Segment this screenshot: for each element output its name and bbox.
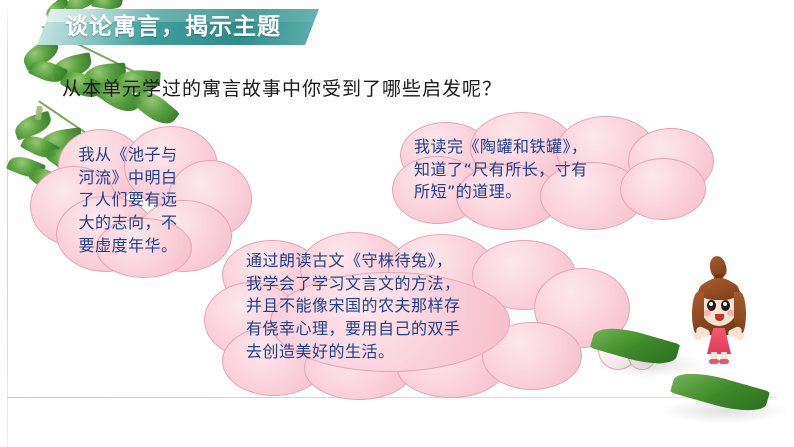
cartoon-girl — [688, 256, 750, 364]
thought-bubble-top-right-text: 我读完《陶罐和铁罐》， 知道了“尺有所长，寸有 所短”的道理。 — [414, 136, 700, 204]
page-title: 谈论寓言，揭示主题 — [65, 9, 281, 45]
girl-fringe — [699, 280, 739, 300]
frame-bottom-line — [7, 397, 777, 398]
girl-hand-right — [736, 332, 744, 340]
frame-left-line — [7, 0, 8, 447]
girl-shoe-left — [709, 359, 719, 364]
girl-shoe-right — [719, 359, 729, 364]
girl-mouth — [715, 314, 724, 321]
girl-eye-left-glint — [709, 302, 713, 306]
girl-eye-right-glint — [723, 302, 727, 306]
thought-bubble-bottom-center-text: 通过朗读古文《守株待兔》， 我学会了学习文言文的方法， 并且不能像宋国的农夫那样… — [246, 250, 566, 364]
girl-hand-left — [694, 332, 702, 340]
thought-bubble-left-text: 我从《池子与 河流》中明白 了人们要有远 大的志向，不 要虚度年华。 — [58, 144, 198, 258]
question-text: 从本单元学过的寓言故事中你受到了哪些启发呢？ — [62, 74, 502, 101]
slide-canvas: 谈论寓言，揭示主题 从本单元学过的寓言故事中你受到了哪些启发呢？ 我从《池子与 … — [0, 0, 794, 447]
